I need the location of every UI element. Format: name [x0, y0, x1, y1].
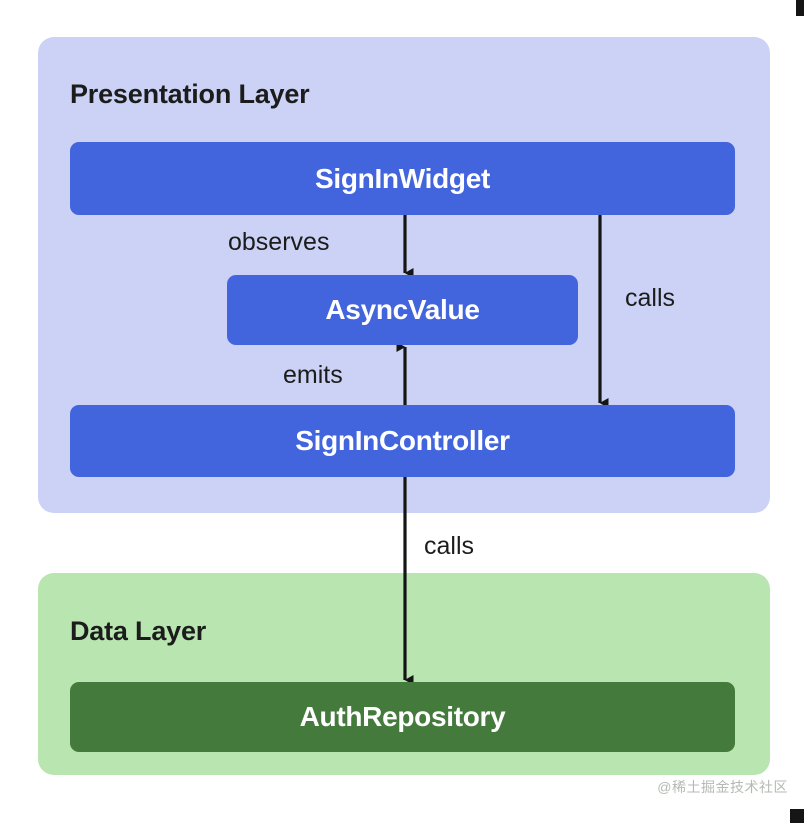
presentation-layer-title: Presentation Layer [70, 79, 310, 110]
node-authrepository-label: AuthRepository [300, 701, 506, 733]
node-signincontroller[interactable]: SignInController [70, 405, 735, 477]
corner-mark-bottom-right-icon [790, 809, 804, 823]
edge-label-calls-repo: calls [424, 532, 474, 561]
data-layer-title: Data Layer [70, 616, 206, 647]
edge-label-emits: emits [283, 361, 343, 390]
diagram-canvas: Presentation Layer Data Layer SignInWidg… [0, 0, 804, 823]
edge-label-observes: observes [228, 228, 329, 257]
node-authrepository[interactable]: AuthRepository [70, 682, 735, 752]
watermark: @稀土掘金技术社区 [657, 777, 788, 797]
node-signinwidget-label: SignInWidget [315, 163, 490, 195]
node-signincontroller-label: SignInController [295, 425, 510, 457]
node-asyncvalue-label: AsyncValue [325, 294, 479, 326]
edge-label-calls-widget: calls [625, 284, 675, 313]
node-signinwidget[interactable]: SignInWidget [70, 142, 735, 215]
node-asyncvalue[interactable]: AsyncValue [227, 275, 578, 345]
corner-mark-top-right-icon [796, 0, 804, 16]
